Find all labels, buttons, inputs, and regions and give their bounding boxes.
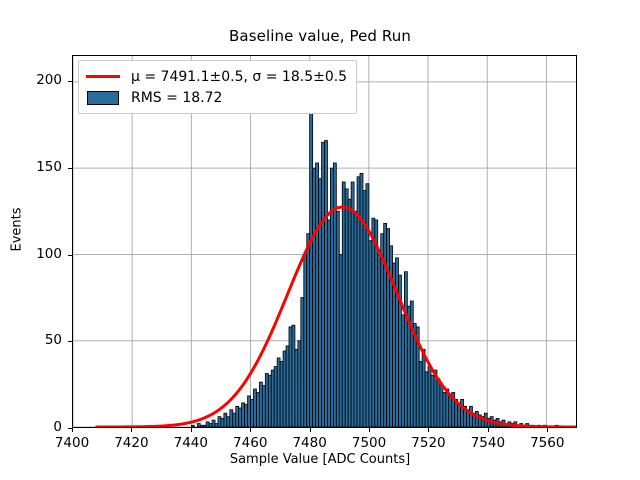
y-axis-label: Events <box>10 140 25 320</box>
figure-canvas: Baseline value, Ped Run 7400742074407460… <box>0 0 640 480</box>
y-tick-mark <box>68 168 72 169</box>
x-tick-mark <box>369 428 370 432</box>
legend-entry-fit: μ = 7491.1±0.5, σ = 18.5±0.5 <box>86 66 347 87</box>
legend-patch-swatch <box>86 91 120 105</box>
legend-entry-hist: RMS = 18.72 <box>86 87 347 108</box>
x-tick-mark <box>191 428 192 432</box>
x-tick-mark <box>72 428 73 432</box>
legend-box[interactable]: μ = 7491.1±0.5, σ = 18.5±0.5 RMS = 18.72 <box>78 60 357 114</box>
legend-label-fit: μ = 7491.1±0.5, σ = 18.5±0.5 <box>131 69 347 85</box>
x-tick-mark <box>488 428 489 432</box>
x-tick-label: 7560 <box>512 435 582 451</box>
chart-title: Baseline value, Ped Run <box>0 27 640 45</box>
x-tick-mark <box>250 428 251 432</box>
x-tick-mark <box>428 428 429 432</box>
x-tick-mark <box>547 428 548 432</box>
y-tick-label: 0 <box>16 419 62 435</box>
legend-line-swatch <box>86 70 120 84</box>
y-tick-label: 200 <box>16 72 62 88</box>
legend-label-hist: RMS = 18.72 <box>131 90 222 106</box>
y-tick-mark <box>68 428 72 429</box>
x-tick-mark <box>131 428 132 432</box>
x-tick-mark <box>310 428 311 432</box>
y-tick-label: 50 <box>16 332 62 348</box>
y-tick-mark <box>68 255 72 256</box>
y-tick-mark <box>68 341 72 342</box>
y-tick-mark <box>68 81 72 82</box>
x-axis-label: Sample Value [ADC Counts] <box>0 452 640 467</box>
